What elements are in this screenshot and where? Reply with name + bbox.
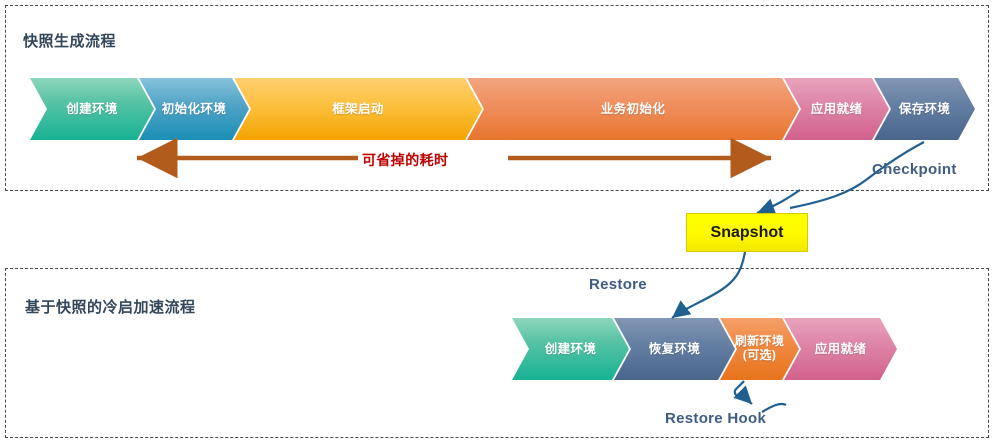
top-flow-step-6-label: 保存环境 bbox=[899, 102, 951, 116]
bottom-flow-step-1[interactable]: 创建环境 bbox=[512, 318, 629, 380]
top-flow-step-4-label: 业务初始化 bbox=[601, 102, 666, 116]
top-flow-step-4[interactable]: 业务初始化 bbox=[467, 78, 799, 140]
top-flow-step-5-label: 应用就绪 bbox=[811, 102, 863, 116]
bottom-flow-step-4-label: 应用就绪 bbox=[815, 342, 867, 356]
bottom-flow-step-1-label: 创建环境 bbox=[545, 342, 597, 356]
bottom-flow-step-3-label: 刷新环境(可选) bbox=[735, 335, 785, 363]
bottom-flow-chevrons: 创建环境恢复环境刷新环境(可选)应用就绪 bbox=[0, 318, 995, 380]
top-flow-step-3[interactable]: 框架启动 bbox=[234, 78, 482, 140]
saved-time-label: 可省掉的耗时 bbox=[362, 150, 448, 170]
top-flow-step-2[interactable]: 初始化环境 bbox=[139, 78, 249, 140]
top-flow-step-1-label: 创建环境 bbox=[66, 102, 118, 116]
diagram-canvas: 快照生成流程 创建环境初始化环境框架启动业务初始化应用就绪保存环境 基于快照的冷… bbox=[0, 0, 995, 446]
top-flow-step-5[interactable]: 应用就绪 bbox=[784, 78, 889, 140]
top-flow-step-2-label: 初始化环境 bbox=[162, 102, 227, 116]
bottom-flow-step-4[interactable]: 应用就绪 bbox=[784, 318, 897, 380]
restore-hook-label: Restore Hook bbox=[665, 410, 766, 427]
top-flow-step-6[interactable]: 保存环境 bbox=[874, 78, 975, 140]
panel-top-title: 快照生成流程 bbox=[23, 30, 116, 51]
snapshot-box-label: Snapshot bbox=[711, 224, 784, 242]
checkpoint-label: Checkpoint bbox=[872, 161, 957, 178]
restore-label: Restore bbox=[589, 276, 647, 293]
bottom-flow-step-2-label: 恢复环境 bbox=[649, 342, 701, 356]
top-flow-chevrons: 创建环境初始化环境框架启动业务初始化应用就绪保存环境 bbox=[0, 78, 995, 140]
snapshot-box[interactable]: Snapshot bbox=[686, 213, 808, 252]
bottom-flow-step-2[interactable]: 恢复环境 bbox=[614, 318, 735, 380]
top-flow-step-3-label: 框架启动 bbox=[332, 102, 384, 116]
panel-bottom-title: 基于快照的冷启加速流程 bbox=[25, 296, 196, 317]
top-flow-step-1[interactable]: 创建环境 bbox=[30, 78, 154, 140]
